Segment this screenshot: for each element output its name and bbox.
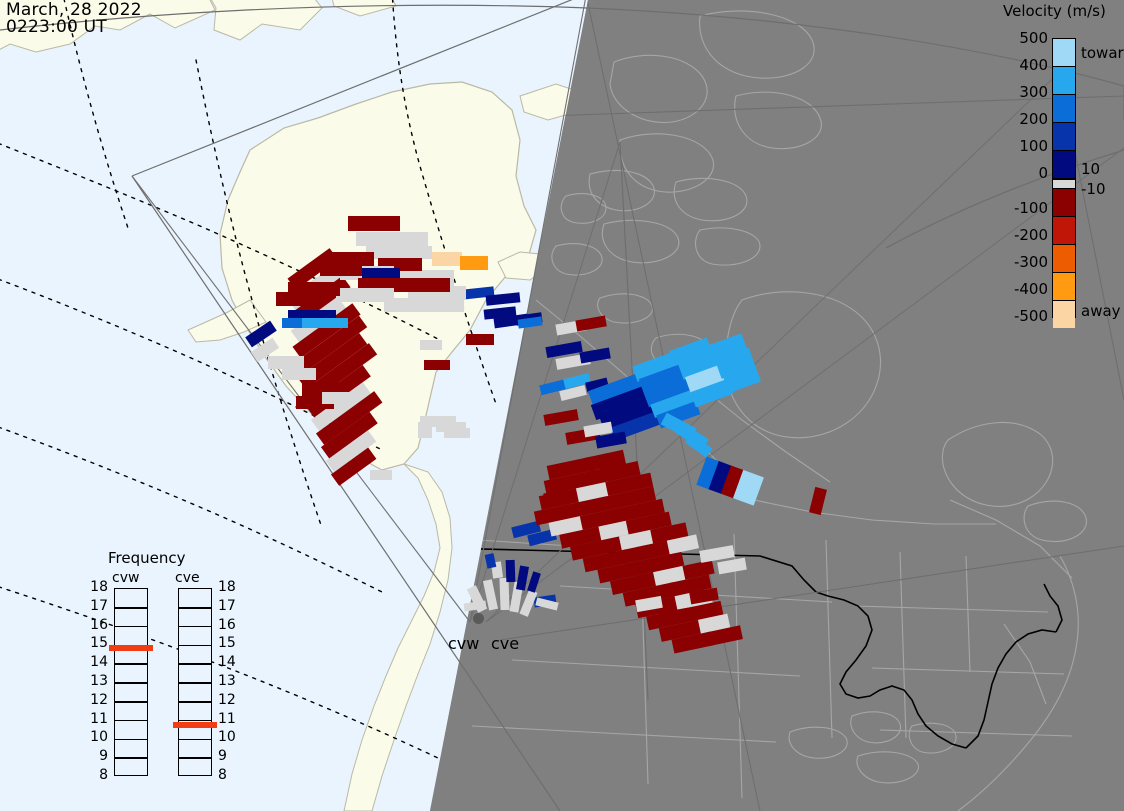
- colorbar-tick-label: 100: [988, 137, 1048, 155]
- colorbar-segment: [1053, 217, 1075, 245]
- colorbar-tick-label: 400: [988, 56, 1048, 74]
- frequency-tick-label: 14: [82, 654, 108, 670]
- colorbar-inner-negative-label: -10: [1081, 180, 1106, 198]
- colorbar-segment: [1053, 273, 1075, 301]
- colorbar-tick-label: 0: [988, 164, 1048, 182]
- frequency-scale-division: [179, 607, 211, 609]
- frequency-tick-label: 18: [82, 579, 108, 595]
- colorbar-segment: [1053, 95, 1075, 123]
- frequency-tick-label: 9: [218, 748, 244, 764]
- frequency-tick-label: 11: [82, 711, 108, 727]
- colorbar-segment: [1053, 39, 1075, 67]
- nightside-coastlines: [472, 11, 1086, 811]
- frequency-tick-label: 16: [218, 617, 244, 633]
- day-landmasses: [0, 0, 580, 811]
- colorbar-tick-label: -100: [988, 199, 1048, 217]
- frequency-tick-label: 17: [82, 598, 108, 614]
- frequency-scale-division: [115, 757, 147, 759]
- timestamp-title: March, 28 2022 0223:00 UT: [6, 2, 142, 36]
- frequency-tick-label: 16: [82, 617, 108, 633]
- frequency-tick-label: 18: [218, 579, 244, 595]
- radar-site-label-cvw: cvw: [448, 634, 479, 653]
- frequency-scale-division: [179, 757, 211, 759]
- map-boundary: [0, 0, 1124, 811]
- velocity-colorbar: [1052, 38, 1076, 318]
- frequency-tick-label: 15: [218, 635, 244, 651]
- colorbar-segment: [1053, 245, 1075, 273]
- frequency-scale-division: [115, 739, 147, 741]
- frequency-scale-division: [179, 720, 211, 722]
- frequency-column-header-cve: cve: [175, 570, 200, 586]
- colorbar-segment: [1053, 151, 1075, 179]
- colorbar-tick-label: 200: [988, 110, 1048, 128]
- superdarn-velocity-map: cvw cve March, 28 2022 0223:00 UT Veloci…: [0, 0, 1124, 811]
- colorbar-tick-label: -200: [988, 226, 1048, 244]
- frequency-tick-label: 11: [218, 711, 244, 727]
- frequency-tick-label: 10: [218, 729, 244, 745]
- frequency-scale-division: [179, 626, 211, 628]
- frequency-tick-label: 17: [218, 598, 244, 614]
- frequency-scale-division: [179, 701, 211, 703]
- colorbar-segment: [1053, 67, 1075, 95]
- colorbar-tick-label: -500: [988, 307, 1048, 325]
- colorbar-tick-label: 500: [988, 29, 1048, 47]
- frequency-tick-label: 9: [82, 748, 108, 764]
- colorbar-toward-label: toward: [1081, 44, 1124, 62]
- frequency-scale-division: [179, 645, 211, 647]
- frequency-scale-division: [115, 663, 147, 665]
- frequency-tick-label: 12: [82, 692, 108, 708]
- frequency-scale-division: [115, 607, 147, 609]
- map-geometry: [0, 0, 1124, 811]
- radar-site-dot: [473, 613, 484, 624]
- scatter-cells-near-range: [464, 553, 559, 617]
- frequency-scale-division: [179, 739, 211, 741]
- frequency-scale-division: [115, 701, 147, 703]
- frequency-column-header-cvw: cvw: [112, 570, 139, 586]
- frequency-scale-division: [115, 682, 147, 684]
- frequency-tick-label: 8: [218, 767, 244, 783]
- colorbar-tick-label: -400: [988, 280, 1048, 298]
- frequency-marker-cvw: [109, 645, 153, 651]
- frequency-marker-cve: [173, 722, 217, 728]
- frequency-scale-division: [115, 720, 147, 722]
- frequency-tick-label: 13: [82, 673, 108, 689]
- frequency-scale-division: [179, 663, 211, 665]
- frequency-legend-title: Frequency: [108, 549, 186, 567]
- frequency-scale-box: [114, 588, 148, 776]
- frequency-tick-label: 14: [218, 654, 244, 670]
- frequency-scale-box: [178, 588, 212, 776]
- radar-site-label-cve: cve: [491, 634, 519, 653]
- frequency-scale-division: [115, 626, 147, 628]
- frequency-tick-label: 12: [218, 692, 244, 708]
- colorbar-segment: [1053, 301, 1075, 328]
- frequency-scale-division: [179, 682, 211, 684]
- frequency-tick-label: 15: [82, 635, 108, 651]
- colorbar-away-label: away: [1081, 302, 1121, 320]
- colorbar-segment: [1053, 189, 1075, 217]
- colorbar-segment: [1053, 179, 1075, 189]
- colorbar-inner-positive-label: 10: [1081, 160, 1100, 178]
- frequency-tick-label: 13: [218, 673, 244, 689]
- colorbar-tick-label: -300: [988, 253, 1048, 271]
- frequency-tick-label: 8: [82, 767, 108, 783]
- colorbar-title: Velocity (m/s): [1003, 2, 1106, 20]
- colorbar-segment: [1053, 123, 1075, 151]
- colorbar-tick-label: 300: [988, 83, 1048, 101]
- frequency-tick-label: 10: [82, 729, 108, 745]
